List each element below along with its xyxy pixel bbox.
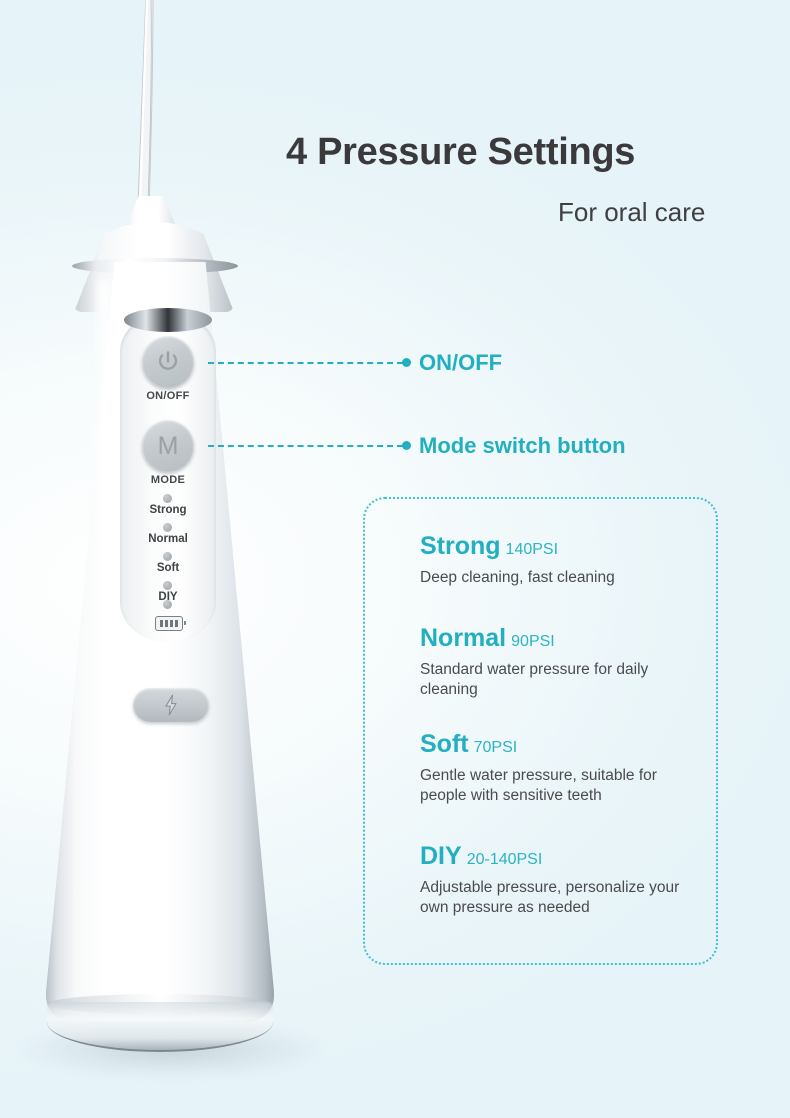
mode-letter-icon: M: [158, 434, 179, 459]
power-button-caption: ON/OFF: [120, 390, 216, 402]
power-icon: [155, 349, 181, 375]
mode-name: Strong: [420, 532, 501, 560]
callout-label-mode: Mode switch button: [419, 433, 626, 459]
battery-bar: [165, 620, 169, 627]
mode-name: Normal: [420, 624, 506, 652]
led-strong: [163, 494, 172, 503]
mode-psi: 70PSI: [474, 739, 518, 756]
led-label-strong: Strong: [120, 504, 216, 516]
led-soft: [163, 552, 172, 561]
led-diy: [163, 581, 172, 590]
mode-name: Soft: [420, 730, 469, 758]
page-subtitle: For oral care: [558, 197, 705, 228]
mode-entry-normal: Normal90PSI Standard water pressure for …: [420, 625, 702, 700]
led-label-normal: Normal: [120, 533, 216, 545]
battery-bar: [170, 620, 174, 627]
leader-line-mode: [208, 445, 403, 447]
power-button[interactable]: [142, 336, 194, 388]
callout-label-onoff: ON/OFF: [419, 350, 502, 376]
pressure-modes-panel: Strong140PSI Deep cleaning, fast cleanin…: [363, 497, 718, 965]
led-battery: [163, 600, 172, 609]
mode-entry-diy: DIY20-140PSI Adjustable pressure, person…: [420, 843, 702, 918]
mode-entry-soft: Soft70PSI Gentle water pressure, suitabl…: [420, 731, 702, 806]
mode-button-caption: MODE: [120, 474, 216, 486]
mode-heading: DIY20-140PSI: [420, 843, 702, 871]
battery-icon: [155, 616, 183, 631]
control-panel-trim: [124, 308, 212, 332]
battery-bar: [160, 620, 164, 627]
led-label-soft: Soft: [120, 562, 216, 574]
mode-psi: 20-140PSI: [467, 851, 543, 868]
lightning-bolt-icon: [161, 693, 181, 717]
mode-heading: Soft70PSI: [420, 731, 702, 759]
mode-description: Gentle water pressure, suitable for peop…: [420, 766, 702, 807]
mode-entry-strong: Strong140PSI Deep cleaning, fast cleanin…: [420, 533, 702, 588]
nozzle-tube-icon: [133, 0, 163, 212]
mode-psi: 140PSI: [506, 541, 558, 558]
mode-description: Adjustable pressure, personalize your ow…: [420, 878, 702, 919]
infographic-canvas: 4 Pressure Settings For oral care ON/OFF: [0, 0, 790, 1118]
leader-dot-onoff: [402, 358, 411, 367]
water-flosser-device: ON/OFF M MODE Strong Normal Soft DIY: [0, 0, 360, 1118]
leader-line-onoff: [208, 362, 403, 364]
mode-description: Standard water pressure for daily cleani…: [420, 660, 702, 701]
device-highlight: [92, 280, 118, 980]
led-normal: [163, 523, 172, 532]
mode-button[interactable]: M: [142, 420, 194, 472]
mode-name: DIY: [420, 842, 462, 870]
battery-bar: [175, 620, 179, 627]
mode-heading: Normal90PSI: [420, 625, 702, 653]
mode-heading: Strong140PSI: [420, 533, 702, 561]
charging-port[interactable]: [133, 688, 209, 722]
leader-dot-mode: [402, 441, 411, 450]
mode-description: Deep cleaning, fast cleaning: [420, 568, 702, 588]
mode-psi: 90PSI: [511, 633, 555, 650]
